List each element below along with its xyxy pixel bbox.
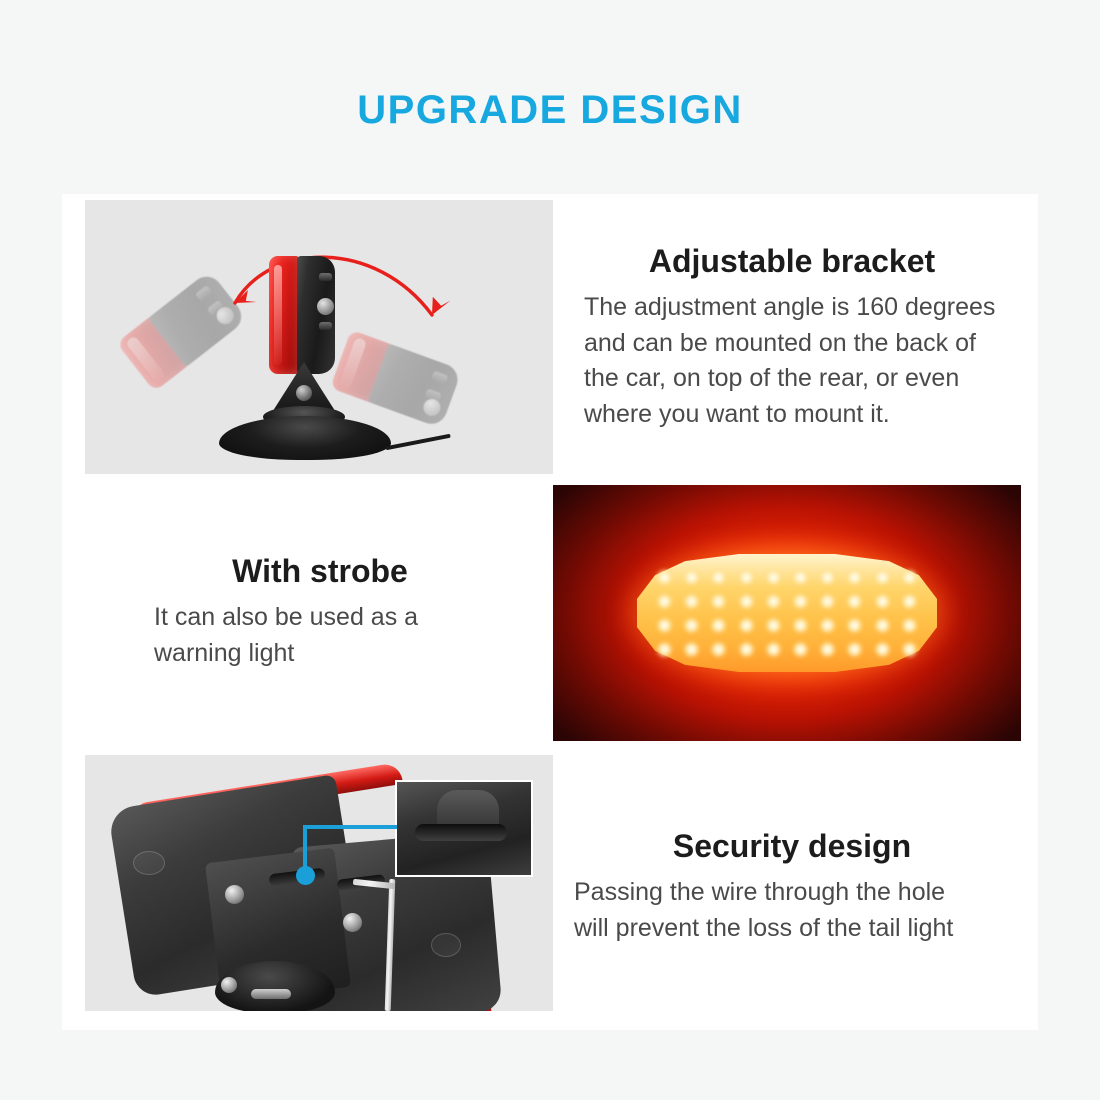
feature-heading-security-design: Security design <box>562 827 1022 865</box>
led-dot <box>766 594 781 609</box>
led-dot <box>820 642 835 657</box>
led-dot <box>793 570 808 585</box>
feature-image-adjustable-bracket <box>85 200 553 474</box>
led-dot <box>739 594 754 609</box>
led-dot <box>793 594 808 609</box>
base-slot <box>251 989 291 999</box>
feature-heading-adjustable-bracket: Adjustable bracket <box>562 242 1022 280</box>
led-dot <box>684 570 699 585</box>
feature-body-adjustable-bracket: The adjustment angle is 160 degrees and … <box>562 290 1022 432</box>
led-dot <box>793 642 808 657</box>
led-dot <box>820 618 835 633</box>
led-array <box>651 565 923 661</box>
infographic-page: UPGRADE DESIGN <box>0 0 1100 1100</box>
feature-text-adjustable-bracket: Adjustable bracket The adjustment angle … <box>562 242 1022 432</box>
led-dot <box>847 642 862 657</box>
led-dot <box>657 570 672 585</box>
callout-line-horizontal <box>303 825 397 829</box>
screw-upper <box>225 885 244 904</box>
led-dot <box>902 570 917 585</box>
tail-light-main <box>269 256 335 374</box>
feature-heading-with-strobe: With strobe <box>94 552 546 590</box>
led-dot <box>684 594 699 609</box>
led-dot <box>739 570 754 585</box>
led-dot <box>902 594 917 609</box>
led-dot <box>793 618 808 633</box>
led-dot <box>711 618 726 633</box>
feature-body-security-design: Passing the wire through the hole will p… <box>562 875 1022 946</box>
led-dot <box>684 618 699 633</box>
pivot-bolt <box>296 385 312 401</box>
feature-card: Adjustable bracket The adjustment angle … <box>62 194 1038 1030</box>
led-dot <box>766 618 781 633</box>
housing-main <box>297 256 335 374</box>
led-dot <box>711 642 726 657</box>
led-dot <box>684 642 699 657</box>
callout-dot <box>296 866 315 885</box>
housing-dimple-left <box>133 851 165 875</box>
feature-image-security-design <box>85 755 553 1011</box>
feature-text-security-design: Security design Passing the wire through… <box>562 827 1022 946</box>
led-dot <box>739 642 754 657</box>
led-dot <box>739 618 754 633</box>
led-dot <box>902 618 917 633</box>
feature-body-with-strobe: It can also be used as a warning light <box>94 600 546 671</box>
led-dot <box>766 570 781 585</box>
bracket-scene <box>85 200 553 474</box>
led-dot <box>820 594 835 609</box>
led-dot <box>902 642 917 657</box>
led-dot <box>657 642 672 657</box>
led-dot <box>847 570 862 585</box>
zoom-inset-panel <box>395 780 533 877</box>
led-dot <box>711 570 726 585</box>
housing-dimple-right <box>431 933 461 957</box>
led-dot <box>657 594 672 609</box>
security-scene <box>85 755 553 1011</box>
led-dot <box>766 642 781 657</box>
page-title: UPGRADE DESIGN <box>0 88 1100 133</box>
inset-wire-slot <box>415 824 507 841</box>
led-dot <box>875 642 890 657</box>
led-dot <box>657 618 672 633</box>
led-dot <box>875 618 890 633</box>
pivot-knob <box>221 977 237 993</box>
lens-main <box>269 256 299 374</box>
screw-lower <box>343 913 362 932</box>
led-dot <box>820 570 835 585</box>
feature-image-with-strobe <box>553 485 1021 741</box>
led-dot <box>847 594 862 609</box>
led-dot <box>711 594 726 609</box>
led-dot <box>875 570 890 585</box>
feature-text-with-strobe: With strobe It can also be used as a war… <box>94 552 546 671</box>
led-dot <box>847 618 862 633</box>
led-dot <box>875 594 890 609</box>
